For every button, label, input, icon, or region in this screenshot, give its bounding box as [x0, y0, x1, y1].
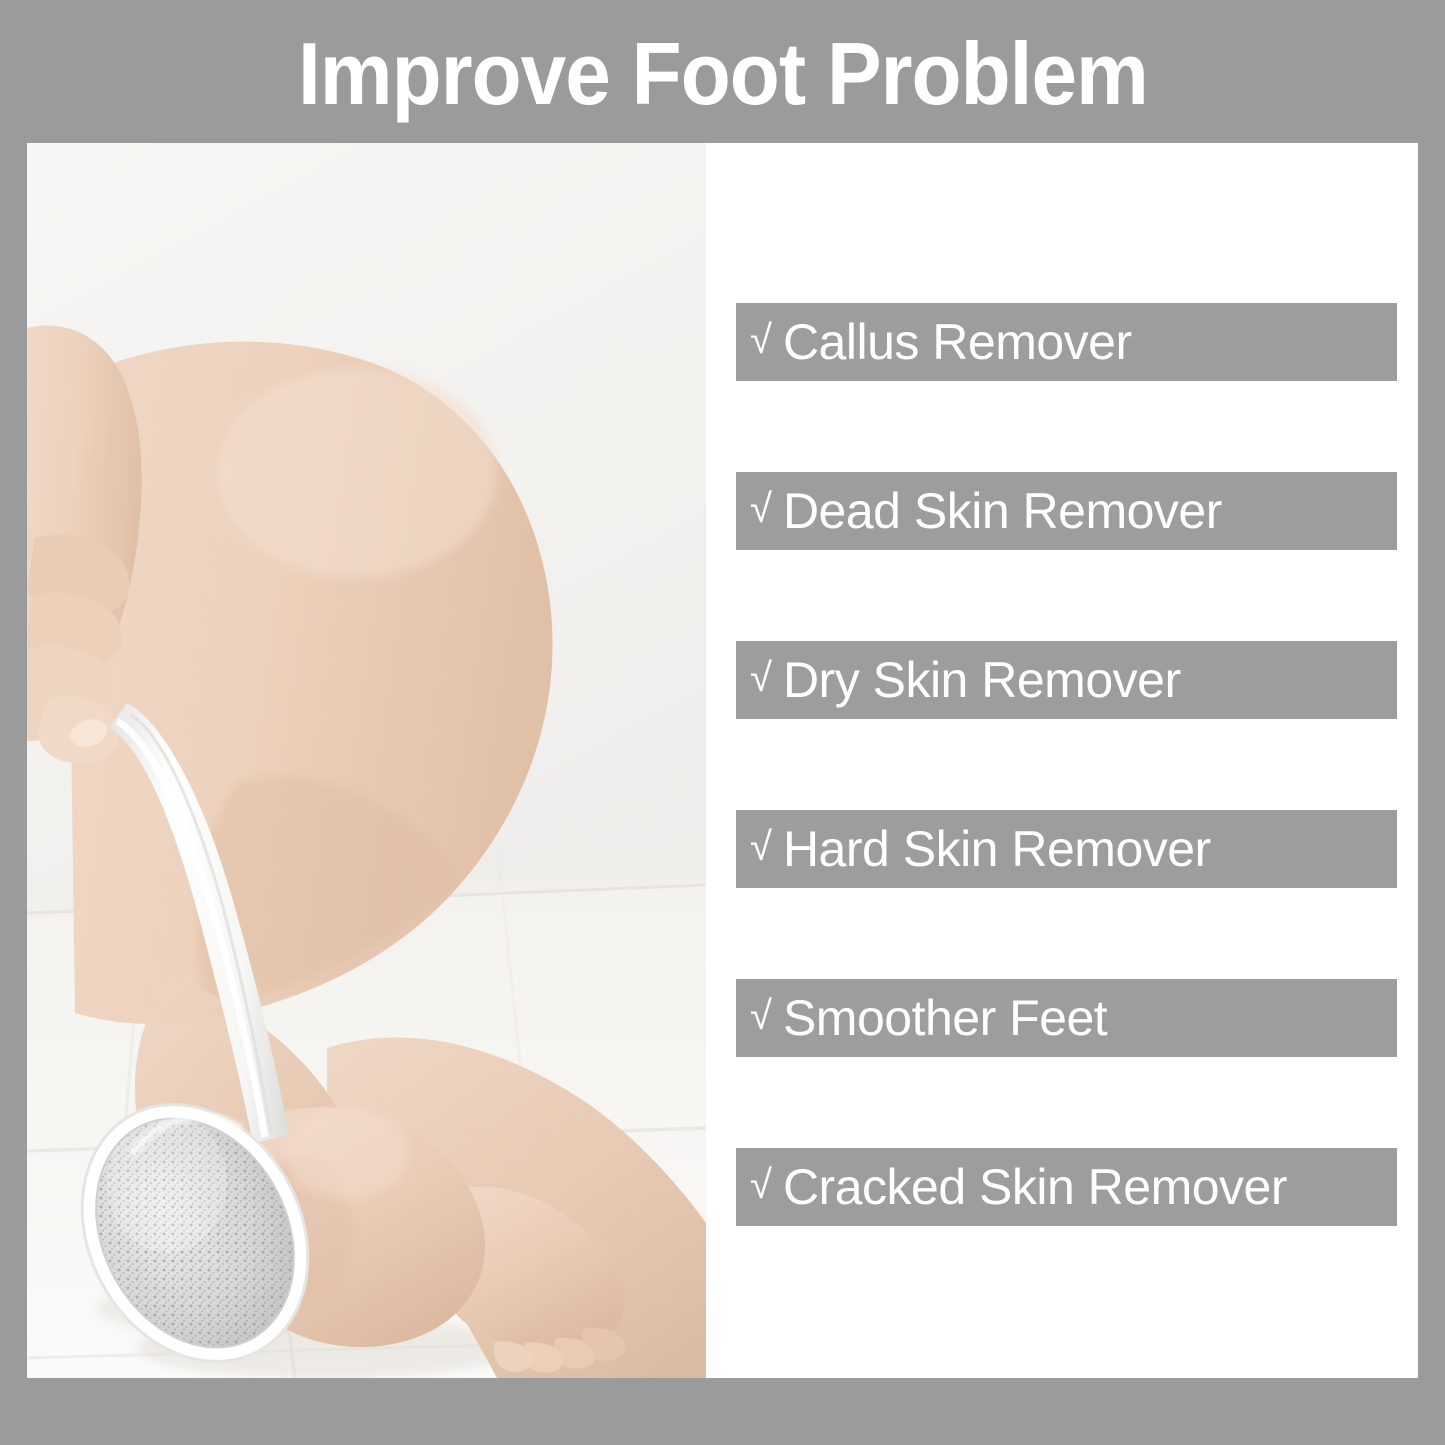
content-panel: √ Callus Remover √ Dead Skin Remover √ D…	[27, 143, 1418, 1378]
feature-label: Dead Skin Remover	[783, 486, 1222, 536]
feature-label: Dry Skin Remover	[783, 655, 1181, 705]
feature-item-cracked-skin-remover: √ Cracked Skin Remover	[736, 1148, 1397, 1226]
feature-item-callus-remover: √ Callus Remover	[736, 303, 1397, 381]
check-icon: √	[750, 996, 772, 1036]
feature-label: Callus Remover	[783, 317, 1132, 367]
feature-label: Cracked Skin Remover	[783, 1162, 1287, 1212]
header: Improve Foot Problem	[0, 0, 1445, 143]
check-icon: √	[750, 658, 772, 698]
feature-label: Hard Skin Remover	[783, 824, 1211, 874]
feature-item-dead-skin-remover: √ Dead Skin Remover	[736, 472, 1397, 550]
feature-label: Smoother Feet	[783, 993, 1107, 1043]
check-icon: √	[750, 1165, 772, 1205]
product-photo	[27, 143, 706, 1378]
photo-illustration	[27, 143, 706, 1378]
feature-item-smoother-feet: √ Smoother Feet	[736, 979, 1397, 1057]
feature-item-dry-skin-remover: √ Dry Skin Remover	[736, 641, 1397, 719]
check-icon: √	[750, 489, 772, 529]
check-icon: √	[750, 827, 772, 867]
check-icon: √	[750, 320, 772, 360]
feature-list: √ Callus Remover √ Dead Skin Remover √ D…	[706, 143, 1418, 1378]
feature-item-hard-skin-remover: √ Hard Skin Remover	[736, 810, 1397, 888]
page-title: Improve Foot Problem	[298, 30, 1148, 118]
